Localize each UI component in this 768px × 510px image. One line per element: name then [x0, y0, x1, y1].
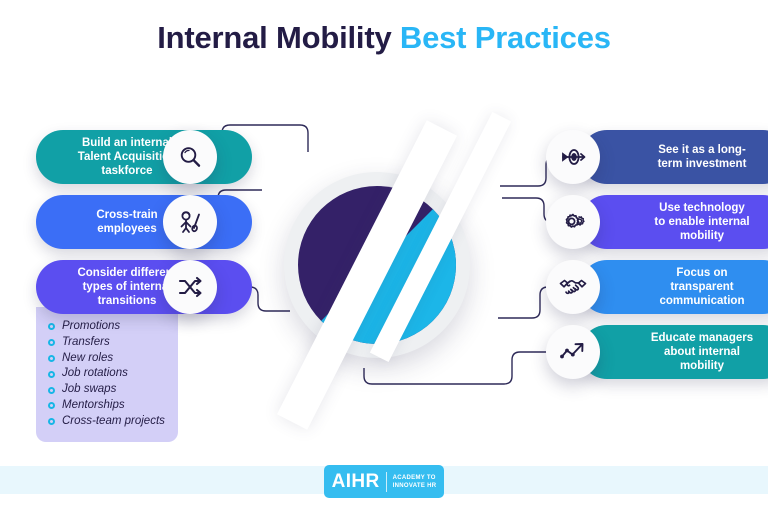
center-graphic: [262, 150, 492, 380]
list-item-label: Promotions: [62, 319, 120, 335]
practice-pill-transparent-communication[interactable]: Focus on transparent communication: [580, 260, 768, 314]
target-arrow-icon[interactable]: [546, 130, 600, 184]
list-item-label: Mentorships: [62, 398, 125, 414]
title-part-accent: Best Practices: [400, 20, 611, 55]
logo-tagline-line2: INNOVATE HR: [393, 482, 437, 490]
bullet-dot-icon: [48, 371, 55, 378]
bullet-dot-icon: [48, 387, 55, 394]
shuffle-icon[interactable]: [163, 260, 217, 314]
list-item: Job swaps: [48, 382, 168, 398]
page-title: Internal Mobility Best Practices: [0, 20, 768, 56]
pill-line: See it as a long-: [658, 143, 747, 157]
trainer-icon[interactable]: [163, 195, 217, 249]
logo-divider: [386, 472, 387, 492]
logo-tagline: ACADEMY TO INNOVATE HR: [393, 474, 437, 490]
practice-pill-use-technology[interactable]: Use technology to enable internal mobili…: [580, 195, 768, 249]
bullet-dot-icon: [48, 323, 55, 330]
pill-line: term investment: [658, 157, 747, 171]
pill-line: Cross-train: [96, 208, 157, 222]
bullet-dot-icon: [48, 402, 55, 409]
pill-line: types of internal: [77, 280, 176, 294]
list-item-label: Transfers: [62, 335, 110, 351]
pill-line: mobility: [651, 359, 753, 373]
pill-line: transitions: [77, 294, 176, 308]
pill-line: employees: [96, 222, 157, 236]
transition-types-list: Promotions Transfers New roles Job rotat…: [36, 307, 178, 442]
list-item: Mentorships: [48, 398, 168, 414]
pill-line: Consider different: [77, 266, 176, 280]
pill-line: mobility: [654, 229, 749, 243]
practice-pill-build-taskforce[interactable]: Build an internal Talent Acquisition tas…: [36, 130, 252, 184]
pill-line: communication: [660, 294, 745, 308]
infographic-canvas: Internal Mobility Best Practices Build a…: [0, 0, 768, 510]
pill-line: about internal: [651, 345, 753, 359]
list-item-label: New roles: [62, 351, 113, 367]
title-part-primary: Internal Mobility: [157, 20, 391, 55]
pill-line: Use technology: [654, 201, 749, 215]
pill-line: taskforce: [78, 164, 176, 178]
list-item-label: Job swaps: [62, 382, 116, 398]
growth-chart-icon[interactable]: [546, 325, 600, 379]
pill-line: Talent Acquisition: [78, 150, 176, 164]
list-item: Cross-team projects: [48, 414, 168, 430]
list-item-label: Job rotations: [62, 366, 128, 382]
practice-pill-long-term-investment[interactable]: See it as a long- term investment: [580, 130, 768, 184]
bullet-dot-icon: [48, 418, 55, 425]
bullet-dot-icon: [48, 355, 55, 362]
list-item-label: Cross-team projects: [62, 414, 165, 430]
logo-wordmark: AIHR: [332, 471, 380, 493]
handshake-icon[interactable]: [546, 260, 600, 314]
pill-line: to enable internal: [654, 215, 749, 229]
pill-line: Build an internal: [78, 136, 176, 150]
gears-icon[interactable]: [546, 195, 600, 249]
list-item: Job rotations: [48, 366, 168, 382]
logo-tagline-line1: ACADEMY TO: [393, 474, 437, 482]
list-item: Promotions: [48, 319, 168, 335]
list-item: Transfers: [48, 335, 168, 351]
practice-pill-transition-types[interactable]: Consider different types of internal tra…: [36, 260, 252, 314]
pill-line: Educate managers: [651, 331, 753, 345]
practice-pill-cross-train[interactable]: Cross-train employees: [36, 195, 252, 249]
pill-line: Focus on: [660, 266, 745, 280]
list-item: New roles: [48, 351, 168, 367]
practice-pill-educate-managers[interactable]: Educate managers about internal mobility: [580, 325, 768, 379]
search-icon[interactable]: [163, 130, 217, 184]
pill-line: transparent: [660, 280, 745, 294]
aihr-logo: AIHR ACADEMY TO INNOVATE HR: [324, 465, 444, 498]
bullet-dot-icon: [48, 339, 55, 346]
